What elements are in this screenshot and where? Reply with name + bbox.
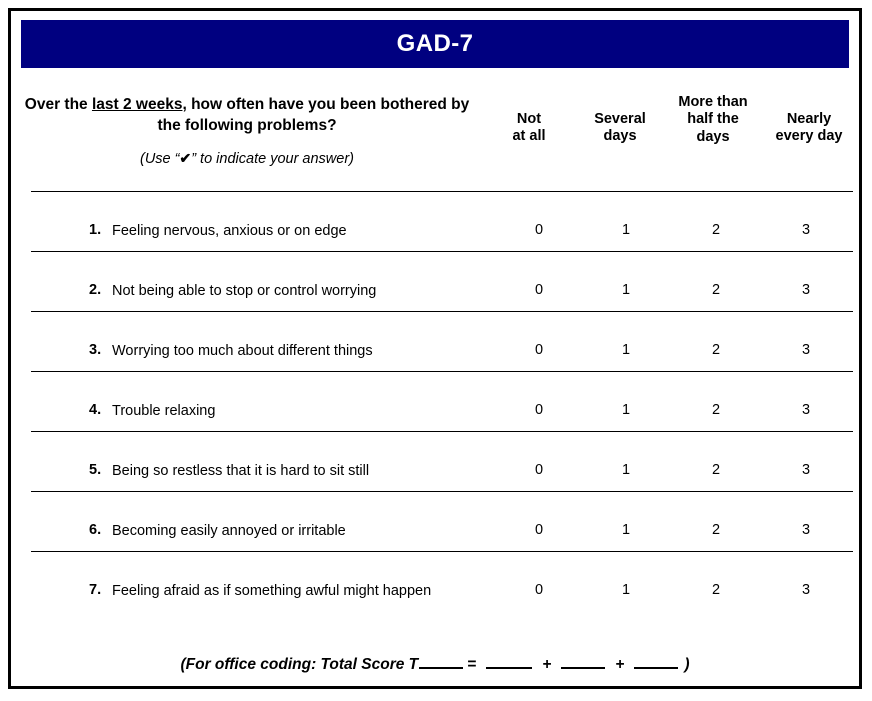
- score-option[interactable]: 0: [519, 402, 559, 418]
- score-option[interactable]: 3: [786, 222, 826, 238]
- form-border: GAD-7 Over the last 2 weeks, how often h…: [8, 8, 862, 689]
- question-number: 7.: [89, 582, 101, 598]
- column-header-several-days: Several days: [578, 111, 662, 146]
- score-option[interactable]: 2: [696, 342, 736, 358]
- score-option[interactable]: 3: [786, 522, 826, 538]
- question-number: 3.: [89, 342, 101, 358]
- question-text: Being so restless that it is hard to sit…: [112, 462, 462, 482]
- subscore-blank-3[interactable]: [634, 667, 678, 669]
- office-coding-line: (For office coding: Total Score T=++): [21, 656, 849, 674]
- page-title: GAD-7: [397, 30, 474, 58]
- question-text: Becoming easily annoyed or irritable: [112, 522, 462, 542]
- score-option[interactable]: 2: [696, 222, 736, 238]
- score-option[interactable]: 1: [606, 462, 646, 478]
- column-header-line: Several: [578, 111, 662, 128]
- score-option[interactable]: 1: [606, 402, 646, 418]
- score-option[interactable]: 1: [606, 222, 646, 238]
- score-option[interactable]: 3: [786, 342, 826, 358]
- score-option[interactable]: 2: [696, 522, 736, 538]
- table-row: 3.Worrying too much about different thin…: [21, 342, 849, 402]
- table-header: Over the last 2 weeks, how often have yo…: [21, 87, 849, 191]
- table-row: 4.Trouble relaxing0123: [21, 402, 849, 462]
- equals-sign: =: [467, 656, 476, 674]
- instruction-suffix: , how often have you been bothered by th…: [157, 96, 469, 134]
- table-row: 1.Feeling nervous, anxious or on edge012…: [21, 222, 849, 282]
- table-row: 6.Becoming easily annoyed or irritable01…: [21, 522, 849, 582]
- instruction-main: Over the last 2 weeks, how often have yo…: [21, 95, 473, 136]
- score-option[interactable]: 1: [606, 522, 646, 538]
- score-option[interactable]: 1: [606, 582, 646, 598]
- column-headers: Not at all Several days More than half t…: [473, 89, 849, 163]
- question-text: Feeling afraid as if something awful mig…: [112, 582, 462, 602]
- score-option[interactable]: 2: [696, 582, 736, 598]
- plus-sign-1: +: [542, 656, 551, 674]
- question-number: 6.: [89, 522, 101, 538]
- instruction-prefix: Over the: [25, 96, 92, 113]
- score-option[interactable]: 1: [606, 342, 646, 358]
- score-option[interactable]: 3: [786, 582, 826, 598]
- row-separator: [31, 251, 853, 252]
- instruction-underlined-period: last 2 weeks: [92, 96, 182, 113]
- table-row: 2.Not being able to stop or control worr…: [21, 282, 849, 342]
- row-separator: [31, 551, 853, 552]
- score-option[interactable]: 3: [786, 282, 826, 298]
- instruction-sub: (Use “✔” to indicate your answer): [21, 150, 473, 167]
- title-bar: GAD-7: [21, 20, 849, 68]
- office-coding-close: ): [684, 656, 689, 673]
- score-option[interactable]: 0: [519, 342, 559, 358]
- score-option[interactable]: 2: [696, 462, 736, 478]
- checkmark-icon: ✔: [179, 150, 191, 166]
- question-number: 4.: [89, 402, 101, 418]
- column-header-line: every day: [761, 128, 857, 145]
- question-text: Not being able to stop or control worryi…: [112, 282, 462, 302]
- score-option[interactable]: 3: [786, 462, 826, 478]
- column-header-line: days: [578, 128, 662, 145]
- score-option[interactable]: 0: [519, 522, 559, 538]
- score-option[interactable]: 0: [519, 222, 559, 238]
- score-option[interactable]: 2: [696, 402, 736, 418]
- score-option[interactable]: 0: [519, 462, 559, 478]
- column-header-line: at all: [491, 128, 567, 145]
- score-option[interactable]: 1: [606, 282, 646, 298]
- subscore-blank-1[interactable]: [486, 667, 532, 669]
- subscore-blank-2[interactable]: [561, 667, 605, 669]
- question-number: 2.: [89, 282, 101, 298]
- question-text: Worrying too much about different things: [112, 342, 462, 362]
- row-separator: [31, 491, 853, 492]
- row-separator: [31, 431, 853, 432]
- instruction-block: Over the last 2 weeks, how often have yo…: [21, 95, 473, 167]
- table-row: 7.Feeling afraid as if something awful m…: [21, 582, 849, 642]
- question-text: Trouble relaxing: [112, 402, 462, 422]
- column-header-line: half the: [667, 111, 759, 128]
- score-option[interactable]: 3: [786, 402, 826, 418]
- column-header-nearly-every-day: Nearly every day: [761, 111, 857, 146]
- column-header-line: More than: [667, 94, 759, 111]
- plus-sign-2: +: [615, 656, 624, 674]
- question-number: 1.: [89, 222, 101, 238]
- row-separator: [31, 371, 853, 372]
- score-option[interactable]: 2: [696, 282, 736, 298]
- column-header-more-than-half-the-days: More than half the days: [667, 94, 759, 146]
- score-option[interactable]: 0: [519, 282, 559, 298]
- gad7-questionnaire-page: GAD-7 Over the last 2 weeks, how often h…: [0, 0, 872, 701]
- column-header-line: Nearly: [761, 111, 857, 128]
- row-separator: [31, 311, 853, 312]
- column-header-not-at-all: Not at all: [491, 111, 567, 146]
- score-option[interactable]: 0: [519, 582, 559, 598]
- question-number: 5.: [89, 462, 101, 478]
- column-header-line: Not: [491, 111, 567, 128]
- office-coding-label: (For office coding: Total Score T: [180, 656, 418, 673]
- table-row: 5.Being so restless that it is hard to s…: [21, 462, 849, 522]
- column-header-line: days: [667, 129, 759, 146]
- question-text: Feeling nervous, anxious or on edge: [112, 222, 462, 242]
- total-score-blank[interactable]: [419, 667, 463, 669]
- instruction-sub-prefix: (Use “: [140, 151, 179, 167]
- instruction-sub-suffix: ” to indicate your answer): [191, 151, 354, 167]
- row-separator: [31, 191, 853, 192]
